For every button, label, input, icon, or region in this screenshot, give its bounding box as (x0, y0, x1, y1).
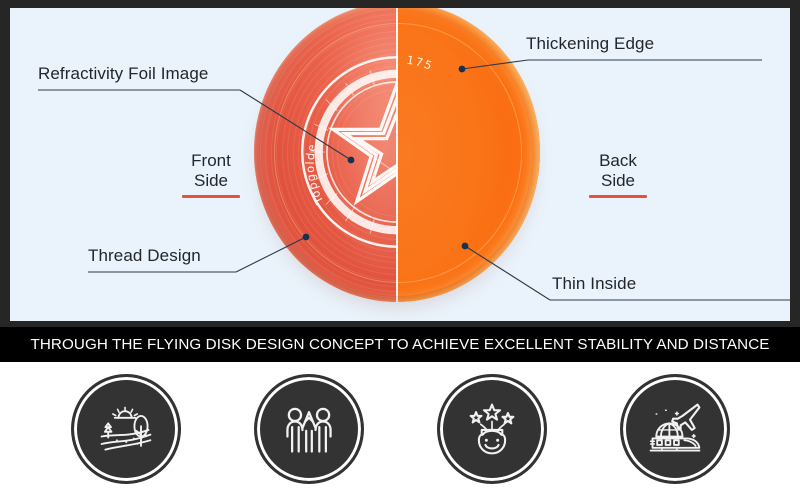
badge-inner (631, 385, 719, 473)
back-side-line1: Back (572, 151, 664, 171)
landscape-sun-trees-icon (96, 399, 156, 459)
product-infographic: Topgolden Sports 175 (0, 0, 800, 495)
back-side-label: Back Side (572, 151, 664, 198)
front-side-line1: Front (165, 151, 257, 171)
back-side-line2: Side (572, 171, 664, 191)
feature-badges (0, 362, 800, 495)
front-side-accent-rule (182, 195, 240, 198)
callout-label: Thread Design (88, 246, 201, 266)
callout-thin-inside: Thin Inside (552, 274, 636, 294)
globe-train-plane-icon (645, 399, 705, 459)
front-side-label: Front Side (165, 151, 257, 198)
callout-thread-design: Thread Design (88, 246, 201, 266)
badge-inner (82, 385, 170, 473)
callout-label: Thickening Edge (526, 34, 654, 54)
badge-kids-fun[interactable] (437, 374, 547, 484)
hero-frame: Topgolden Sports 175 (0, 0, 800, 327)
callout-label: Thin Inside (552, 274, 636, 294)
callout-refractivity-foil-image: Refractivity Foil Image (38, 64, 208, 84)
callout-leader-lines (10, 8, 790, 321)
front-side-line2: Side (165, 171, 257, 191)
tagline-text: THROUGH THE FLYING DISK DESIGN CONCEPT T… (30, 336, 769, 353)
back-side-accent-rule (589, 195, 647, 198)
happy-child-stars-icon (462, 399, 522, 459)
hero-panel: Topgolden Sports 175 (10, 8, 790, 321)
badge-friends-together[interactable] (254, 374, 364, 484)
tagline-banner: THROUGH THE FLYING DISK DESIGN CONCEPT T… (0, 327, 800, 362)
badge-inner (448, 385, 536, 473)
callout-label: Refractivity Foil Image (38, 64, 208, 84)
badge-travel[interactable] (620, 374, 730, 484)
callout-thickening-edge: Thickening Edge (526, 34, 654, 54)
three-people-icon (279, 399, 339, 459)
badge-outdoor-nature[interactable] (71, 374, 181, 484)
badge-inner (265, 385, 353, 473)
